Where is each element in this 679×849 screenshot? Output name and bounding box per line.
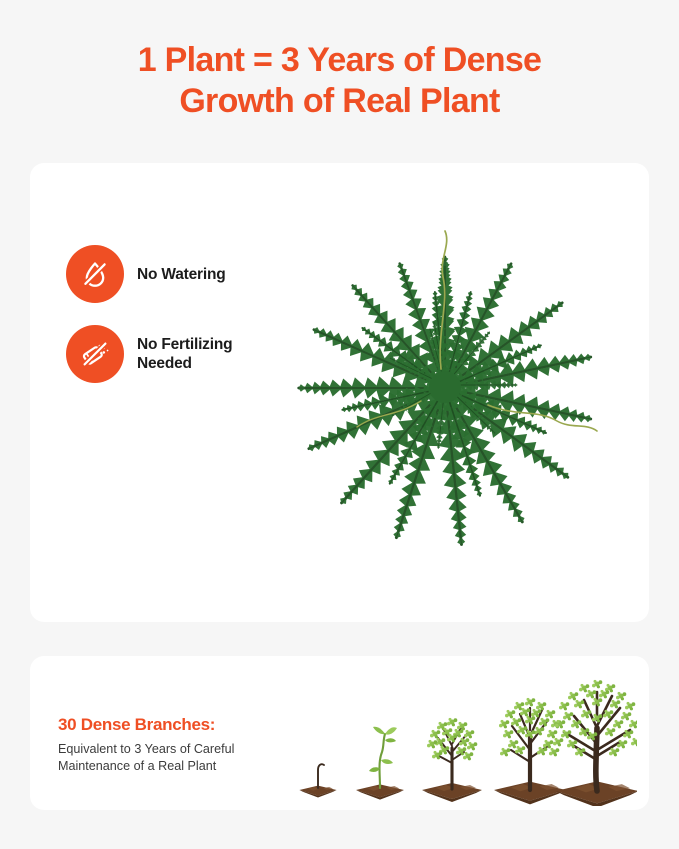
- feature-label-line: Needed: [137, 354, 232, 373]
- infographic-page: 1 Plant = 3 Years of Dense Growth of Rea…: [0, 0, 679, 849]
- feature-label-no-fertilizing: No Fertilizing Needed: [137, 335, 232, 373]
- branch-count-title: 30 Dense Branches:: [58, 714, 308, 736]
- branch-count-text: 30 Dense Branches: Equivalent to 3 Years…: [58, 714, 308, 774]
- branch-count-subtitle-line-1: Equivalent to 3 Years of Careful: [58, 741, 308, 758]
- feature-label-no-watering: No Watering: [137, 265, 226, 284]
- page-title: 1 Plant = 3 Years of Dense Growth of Rea…: [0, 40, 679, 122]
- branch-count-subtitle: Equivalent to 3 Years of Careful Mainten…: [58, 741, 308, 774]
- branch-count-card: 30 Dense Branches: Equivalent to 3 Years…: [30, 656, 649, 810]
- no-fertilizing-icon: [66, 325, 124, 383]
- feature-label-line: No Watering: [137, 266, 226, 283]
- page-title-line-2: Growth of Real Plant: [0, 81, 679, 122]
- tree-growth-stages-illustration: [292, 664, 637, 806]
- product-feature-card: No Watering: [30, 163, 649, 622]
- no-watering-icon: [66, 245, 124, 303]
- page-title-line-1: 1 Plant = 3 Years of Dense: [0, 40, 679, 81]
- product-image-fern: [245, 173, 645, 613]
- branch-count-subtitle-line-2: Maintenance of a Real Plant: [58, 758, 308, 775]
- feature-label-line: No Fertilizing: [137, 335, 232, 354]
